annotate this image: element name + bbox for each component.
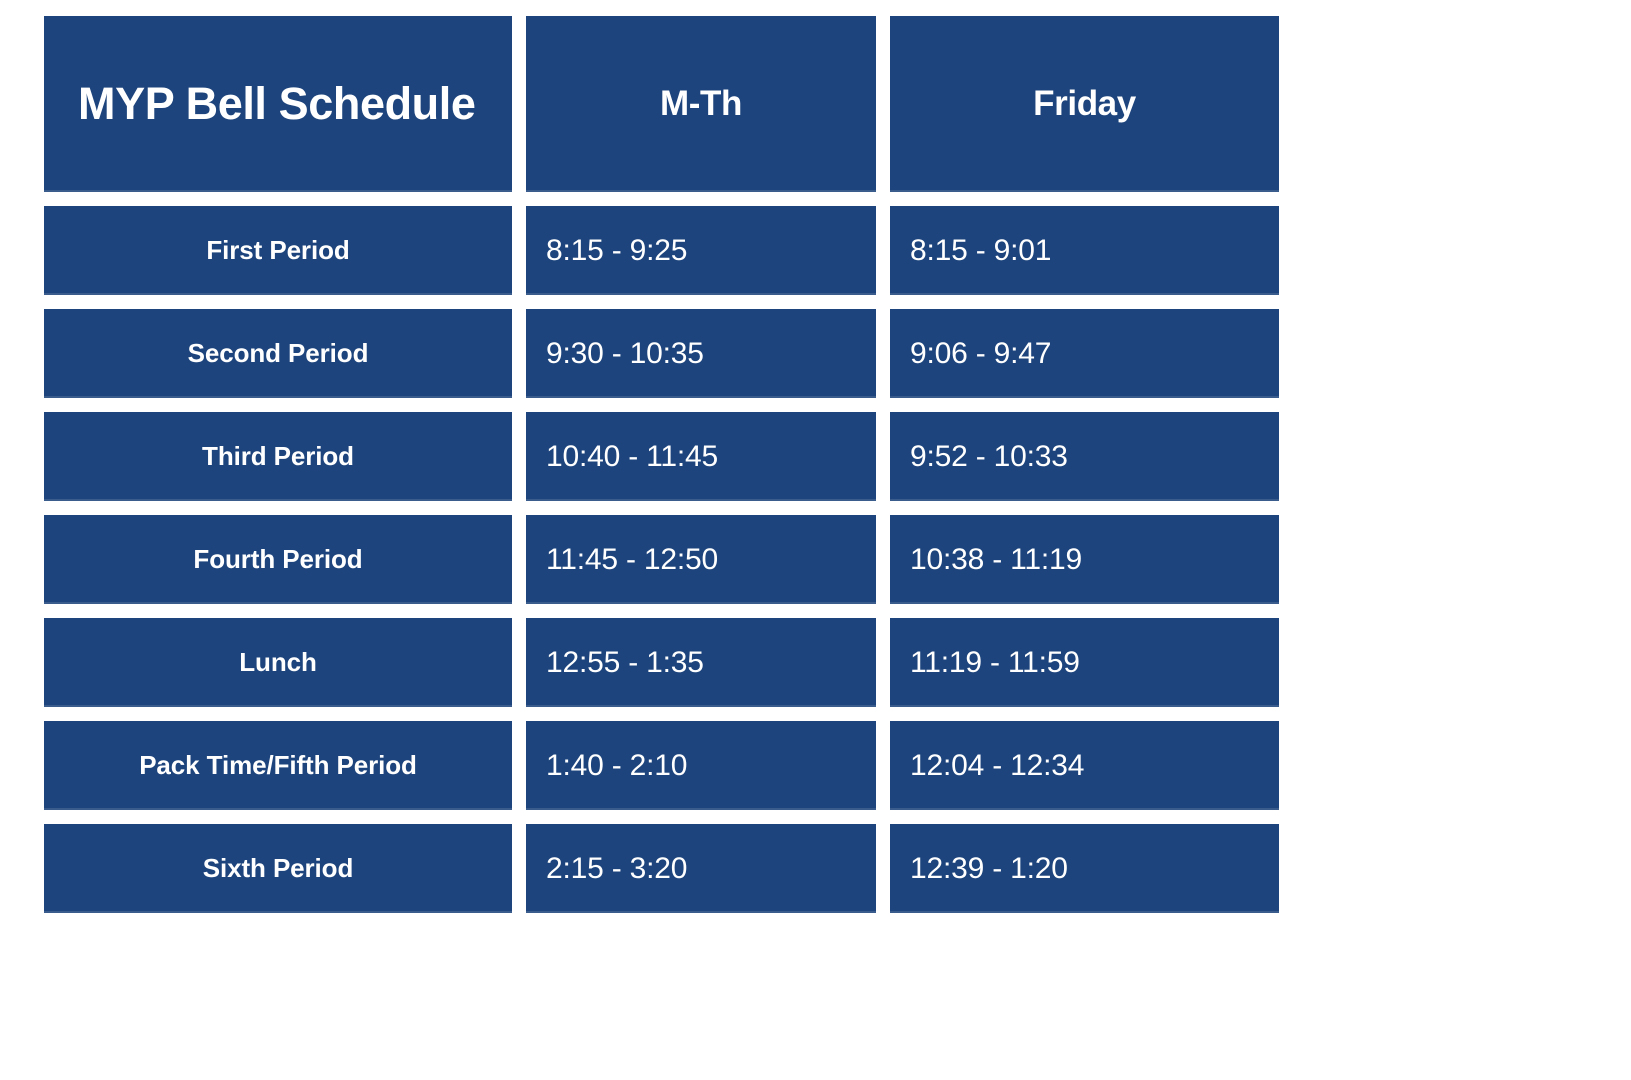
cell-mth-first-period: 8:15 - 9:25 xyxy=(526,206,890,309)
table-row: Lunch 12:55 - 1:35 11:19 - 11:59 xyxy=(44,618,1279,721)
cell-mth-lunch: 12:55 - 1:35 xyxy=(526,618,890,721)
header-row: MYP Bell Schedule M-Th Friday xyxy=(44,16,1279,206)
cell-friday-fourth-period: 10:38 - 11:19 xyxy=(890,515,1279,618)
row-label-first-period: First Period xyxy=(44,206,526,309)
table-header: MYP Bell Schedule M-Th Friday xyxy=(44,16,1279,206)
page-title: MYP Bell Schedule xyxy=(44,16,526,206)
cell-friday-sixth-period: 12:39 - 1:20 xyxy=(890,824,1279,927)
cell-friday-lunch: 11:19 - 11:59 xyxy=(890,618,1279,721)
cell-friday-third-period: 9:52 - 10:33 xyxy=(890,412,1279,515)
cell-friday-pack-time-fifth-period: 12:04 - 12:34 xyxy=(890,721,1279,824)
cell-mth-second-period: 9:30 - 10:35 xyxy=(526,309,890,412)
cell-mth-fourth-period: 11:45 - 12:50 xyxy=(526,515,890,618)
row-label-second-period: Second Period xyxy=(44,309,526,412)
table-row: Pack Time/Fifth Period 1:40 - 2:10 12:04… xyxy=(44,721,1279,824)
table-body: First Period 8:15 - 9:25 8:15 - 9:01 Sec… xyxy=(44,206,1279,927)
cell-mth-pack-time-fifth-period: 1:40 - 2:10 xyxy=(526,721,890,824)
table-row: Sixth Period 2:15 - 3:20 12:39 - 1:20 xyxy=(44,824,1279,927)
bell-schedule-table: MYP Bell Schedule M-Th Friday First Peri… xyxy=(44,16,1279,927)
schedule-page: MYP Bell Schedule M-Th Friday First Peri… xyxy=(0,0,1631,1080)
row-label-fourth-period: Fourth Period xyxy=(44,515,526,618)
column-header-mth: M-Th xyxy=(526,16,890,206)
cell-friday-second-period: 9:06 - 9:47 xyxy=(890,309,1279,412)
table-row: First Period 8:15 - 9:25 8:15 - 9:01 xyxy=(44,206,1279,309)
table-row: Second Period 9:30 - 10:35 9:06 - 9:47 xyxy=(44,309,1279,412)
table-row: Fourth Period 11:45 - 12:50 10:38 - 11:1… xyxy=(44,515,1279,618)
cell-mth-third-period: 10:40 - 11:45 xyxy=(526,412,890,515)
cell-friday-first-period: 8:15 - 9:01 xyxy=(890,206,1279,309)
table-row: Third Period 10:40 - 11:45 9:52 - 10:33 xyxy=(44,412,1279,515)
row-label-third-period: Third Period xyxy=(44,412,526,515)
row-label-lunch: Lunch xyxy=(44,618,526,721)
column-header-friday: Friday xyxy=(890,16,1279,206)
row-label-sixth-period: Sixth Period xyxy=(44,824,526,927)
cell-mth-sixth-period: 2:15 - 3:20 xyxy=(526,824,890,927)
row-label-pack-time-fifth-period: Pack Time/Fifth Period xyxy=(44,721,526,824)
